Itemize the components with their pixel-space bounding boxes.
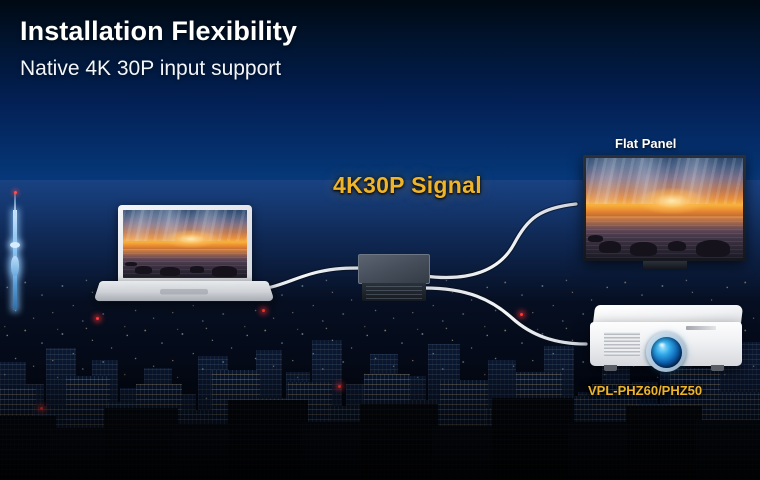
page-title: Installation Flexibility: [20, 16, 297, 47]
slide-canvas: Installation Flexibility Native 4K 30P i…: [0, 0, 760, 480]
laptop-base: [93, 281, 274, 301]
flat-panel-bezel: [583, 155, 746, 261]
projector-lens: [651, 337, 682, 368]
cable-box-to-projector-core: [424, 288, 586, 344]
flat-panel-label: Flat Panel: [615, 136, 676, 151]
laser-projector: [588, 305, 746, 379]
cable-box-to-projector: [424, 288, 586, 344]
signal-label: 4K30P Signal: [333, 172, 482, 199]
projector-brand-mark: [686, 326, 716, 330]
sunset-image-panel: [586, 158, 743, 258]
laptop-screen: [123, 210, 247, 278]
distribution-box-front: [362, 283, 426, 301]
distribution-box-top: [358, 254, 430, 284]
projector-foot: [604, 365, 617, 371]
projector-lens-ring: [646, 332, 686, 372]
projector-body: [590, 322, 742, 366]
sunset-image-laptop: [123, 210, 247, 278]
laptop-device: [100, 205, 268, 310]
projector-foot: [711, 365, 724, 371]
projector-vent: [604, 332, 640, 356]
signal-distribution-box: [358, 254, 430, 302]
cable-box-to-panel-core: [424, 204, 576, 278]
page-subtitle: Native 4K 30P input support: [20, 57, 297, 81]
laptop-trackpad: [160, 289, 208, 295]
flat-panel-stand: [643, 261, 687, 270]
header-block: Installation Flexibility Native 4K 30P i…: [20, 16, 297, 81]
flat-panel-display: [583, 155, 746, 261]
flat-panel-screen: [586, 158, 743, 258]
laptop-lid: [118, 205, 252, 285]
projector-model-label: VPL-PHZ60/PHZ50: [588, 383, 702, 398]
cable-box-to-panel: [424, 204, 576, 278]
